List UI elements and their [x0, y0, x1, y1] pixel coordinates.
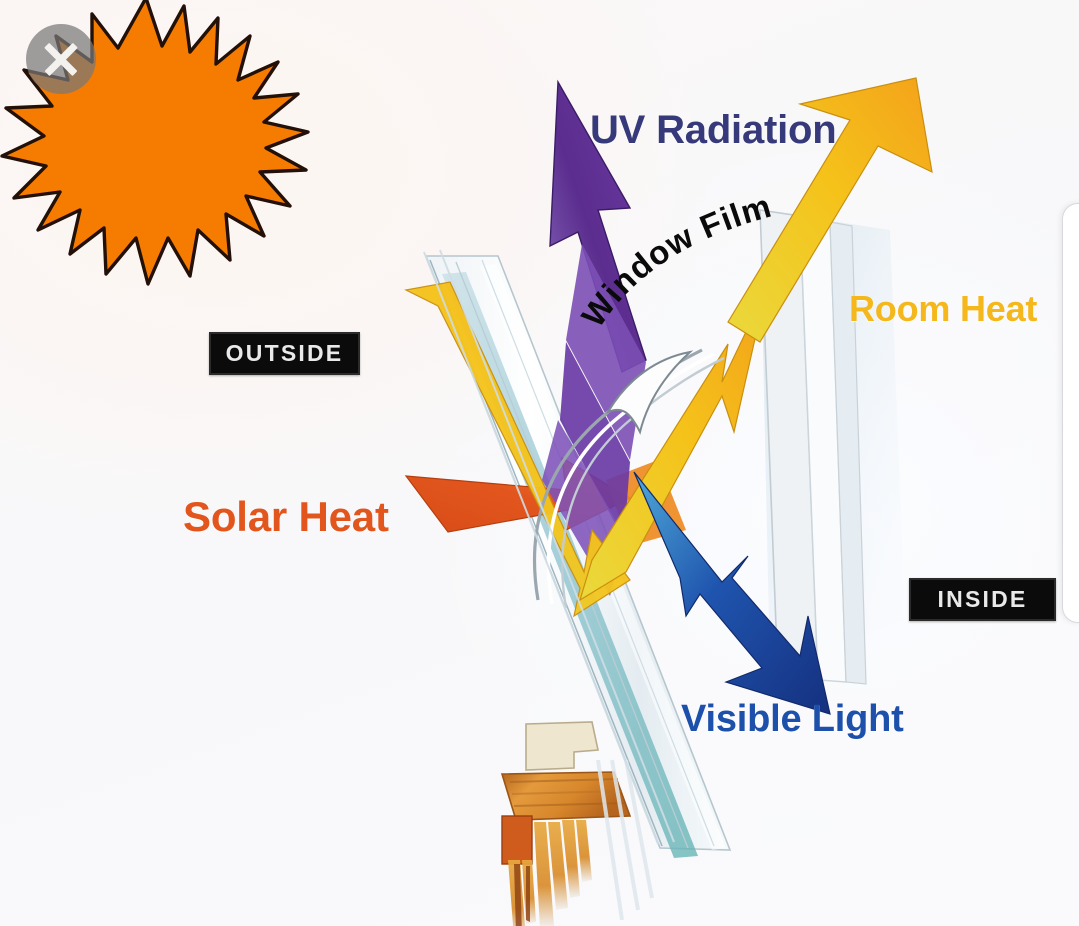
inside-badge: INSIDE — [909, 578, 1056, 621]
close-button[interactable] — [26, 24, 96, 94]
outside-badge: OUTSIDE — [209, 332, 360, 375]
room-heat-label: Room Heat — [849, 288, 1037, 330]
uv-radiation-label: UV Radiation — [590, 108, 837, 153]
solar-heat-label: Solar Heat — [183, 493, 389, 541]
image-viewer-stage: Window Film UV Radiation Room Heat Solar… — [0, 0, 1079, 926]
window-film-diagram — [330, 60, 950, 926]
visible-light-label: Visible Light — [681, 698, 904, 741]
adjacent-card-edge[interactable] — [1062, 203, 1079, 623]
window-sill-cap — [526, 722, 598, 770]
